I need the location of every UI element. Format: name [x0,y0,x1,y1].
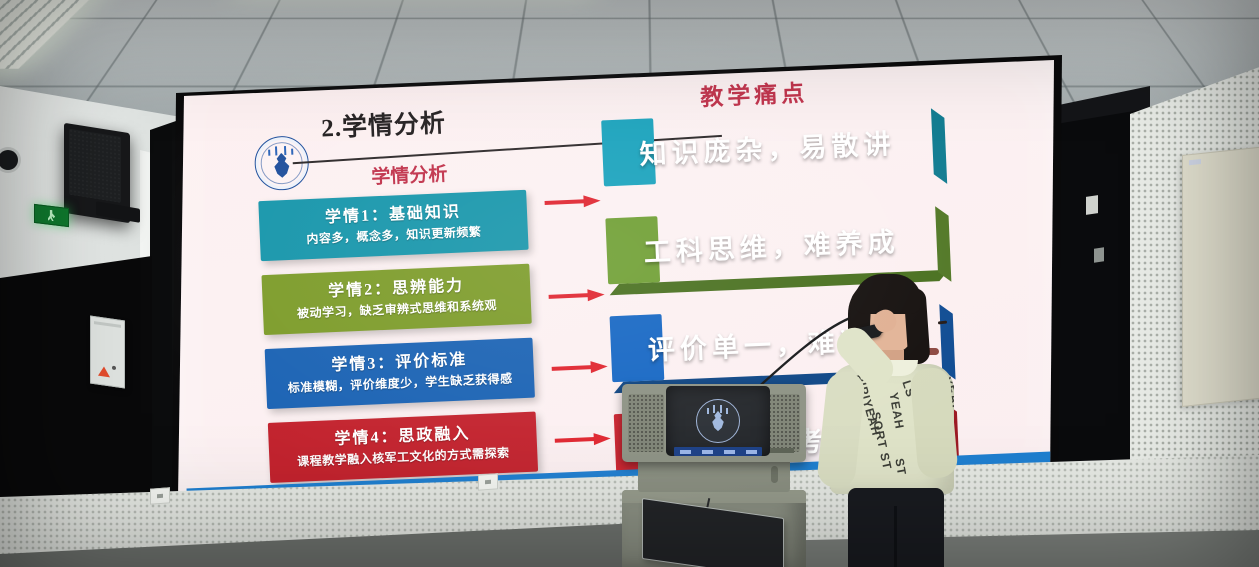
sweater-word: ST [892,457,909,477]
lectern-motto-band [674,447,762,456]
right-panel-marking [1094,247,1104,262]
running-man-icon [48,210,56,222]
card-heading: 学情1：基础知识 [325,204,462,227]
list-item: 学情4：思政融入 课程教学融入核军工文化的方式需探索 [268,412,538,483]
hair-top [854,274,922,314]
lectern-display[interactable] [666,386,770,456]
card-detail: 内容多，概念多，知识更新频繁 [306,223,482,247]
callout-slab: 知识庞杂，易散讲 [601,106,934,186]
lecture-hall-photo: 2.学情分析 学情分析 教学痛点 学情1：基础知识 内容多，概念多，知识更新频繁… [0,0,1259,567]
lectern-base [622,490,806,567]
eye [938,321,947,325]
wall-outlet[interactable] [150,487,170,504]
lectern-top [622,384,806,462]
wall-outlet[interactable] [478,473,498,490]
lectern [614,378,810,567]
card-heading: 学情3：评价标准 [331,352,468,375]
slide-subtitle: 学情分析 [371,159,448,189]
callout-text: 知识庞杂，易散讲 [639,121,896,171]
electrical-panel[interactable] [90,316,125,389]
lectern-column [638,458,790,492]
arrow-icon [551,360,607,374]
card-heading: 学情4：思政融入 [334,426,471,449]
presenter: PIPIYEAH SORT ST YEAH LS RT ST YEAH ST [818,276,958,567]
trousers [848,488,944,567]
right-panel-tag [1086,195,1098,215]
arrow-icon [555,432,611,446]
list-item: 学情3：评价标准 标准模糊，评价维度少，学生缺乏获得感 [265,338,535,409]
lectern-speaker-grill [628,394,664,452]
arrow-icon [544,195,600,209]
arrow-icon [548,289,604,303]
wall-access-door[interactable] [1182,145,1259,407]
right-column-heading: 教学痛点 [699,74,808,113]
card-detail: 被动学习，缺乏审辨式思维和系统观 [297,297,498,323]
callout-slab: 工科思维，难养成 [605,204,938,284]
callout-text: 工科思维，难养成 [643,219,900,269]
slide-title: 2.学情分析 [320,103,446,144]
list-item: 学情1：基础知识 内容多，概念多，知识更新频繁 [258,190,528,261]
room: 2.学情分析 学情分析 教学痛点 学情1：基础知识 内容多，概念多，知识更新频繁… [0,0,1259,567]
card-detail: 标准模糊，评价维度少，学生缺乏获得感 [287,370,513,397]
warning-triangle-icon [98,366,110,378]
card-heading: 学情2：思辨能力 [328,278,465,301]
university-emblem-icon [696,399,740,443]
list-item: 学情2：思辨能力 被动学习，缺乏审辨式思维和系统观 [261,264,531,335]
card-detail: 课程教学融入核军工文化的方式需探索 [297,444,510,470]
